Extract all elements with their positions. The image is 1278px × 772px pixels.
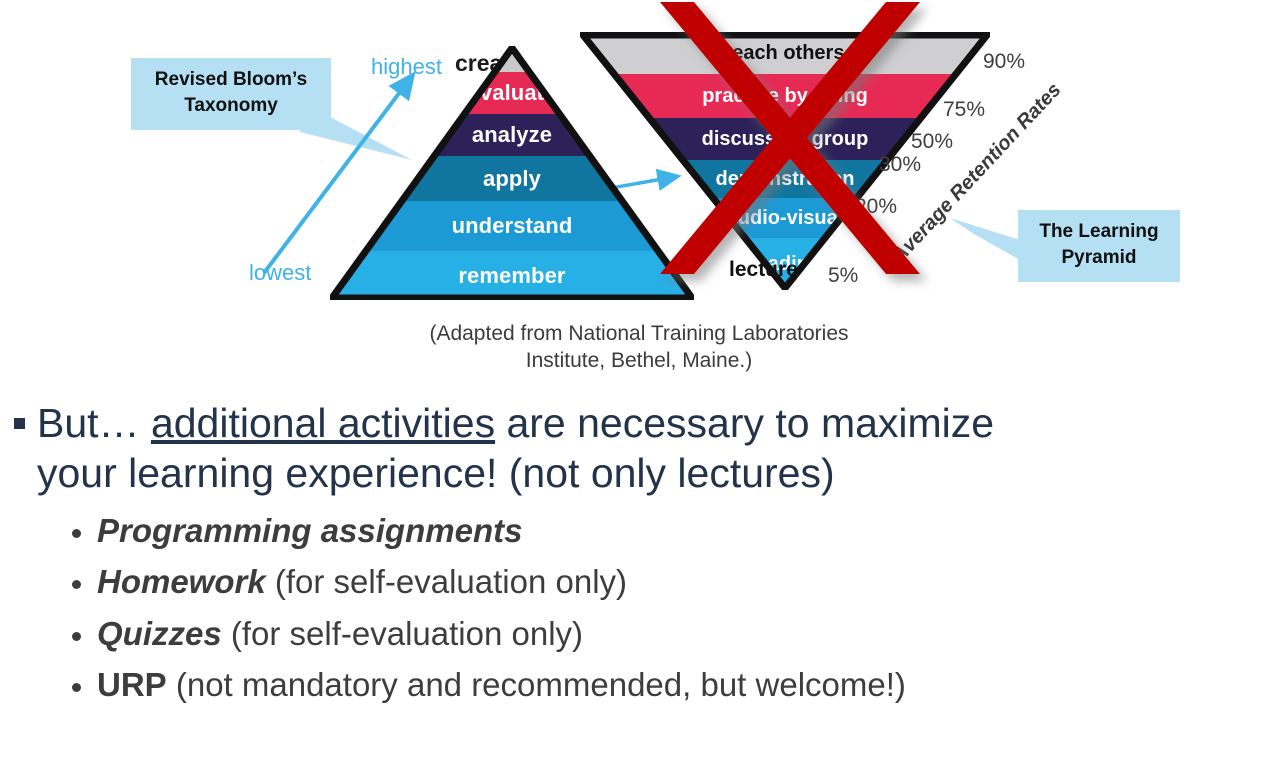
round-bullet-icon — [72, 580, 81, 589]
sub-bullet-text: URP (not mandatory and recommended, but … — [97, 664, 906, 705]
caption-line-2: Institute, Bethel, Maine.) — [0, 347, 1278, 374]
sub-bullet-text: Homework (for self-evaluation only) — [97, 561, 627, 602]
sub-bullet-rest: (for self-evaluation only) — [222, 615, 583, 652]
pct-practice-by-doing: 75% — [943, 98, 985, 122]
round-bullet-icon — [72, 632, 81, 641]
square-bullet-icon — [14, 418, 25, 429]
sub-bullet-rest: (for self-evaluation only) — [266, 563, 627, 600]
sub-bullet-emphasis: Quizzes — [97, 615, 222, 652]
list-item: Quizzes (for self-evaluation only) — [72, 613, 1278, 654]
main-bullet-text: But… additional activities are necessary… — [37, 398, 1047, 498]
main-bullet-item: But… additional activities are necessary… — [0, 398, 1278, 498]
sub-bullet-text: Quizzes (for self-evaluation only) — [97, 613, 583, 654]
callout-the-learning-pyramid: The Learning Pyramid — [1018, 210, 1180, 282]
bloom-label-apply: apply — [483, 166, 541, 192]
sub-bullet-emphasis: URP — [97, 666, 167, 703]
callout-learn-line1: The Learning — [1026, 219, 1172, 245]
caption-line-1: (Adapted from National Training Laborato… — [0, 320, 1278, 347]
sub-bullet-list: Programming assignments Homework (for se… — [0, 510, 1278, 705]
round-bullet-icon — [72, 683, 81, 692]
sub-bullet-rest: (not mandatory and recommended, but welc… — [167, 666, 906, 703]
learning-diagram: Revised Bloom’s Taxonomy The Learning Py… — [0, 0, 1278, 390]
list-item: URP (not mandatory and recommended, but … — [72, 664, 1278, 705]
round-bullet-icon — [72, 529, 81, 538]
sub-bullet-emphasis: Programming assignments — [97, 512, 522, 549]
main-bullet-before: But… — [37, 400, 151, 446]
list-item: Programming assignments — [72, 510, 1278, 551]
slide-body: But… additional activities are necessary… — [0, 398, 1278, 715]
bloom-label-analyze: analyze — [472, 122, 552, 148]
list-item: Homework (for self-evaluation only) — [72, 561, 1278, 602]
pct-teach-others: 90% — [983, 50, 1025, 74]
red-x-strikethrough-icon — [640, 0, 940, 304]
bloom-label-evaluate: evaluate — [468, 80, 557, 106]
main-bullet-underlined: additional activities — [151, 400, 495, 446]
diagram-caption: (Adapted from National Training Laborato… — [0, 320, 1278, 375]
sub-bullet-text: Programming assignments — [97, 510, 522, 551]
sub-bullet-emphasis: Homework — [97, 563, 266, 600]
callout-learn-line2: Pyramid — [1026, 245, 1172, 271]
bloom-label-remember: remember — [458, 263, 565, 289]
bloom-label-understand: understand — [452, 213, 573, 239]
